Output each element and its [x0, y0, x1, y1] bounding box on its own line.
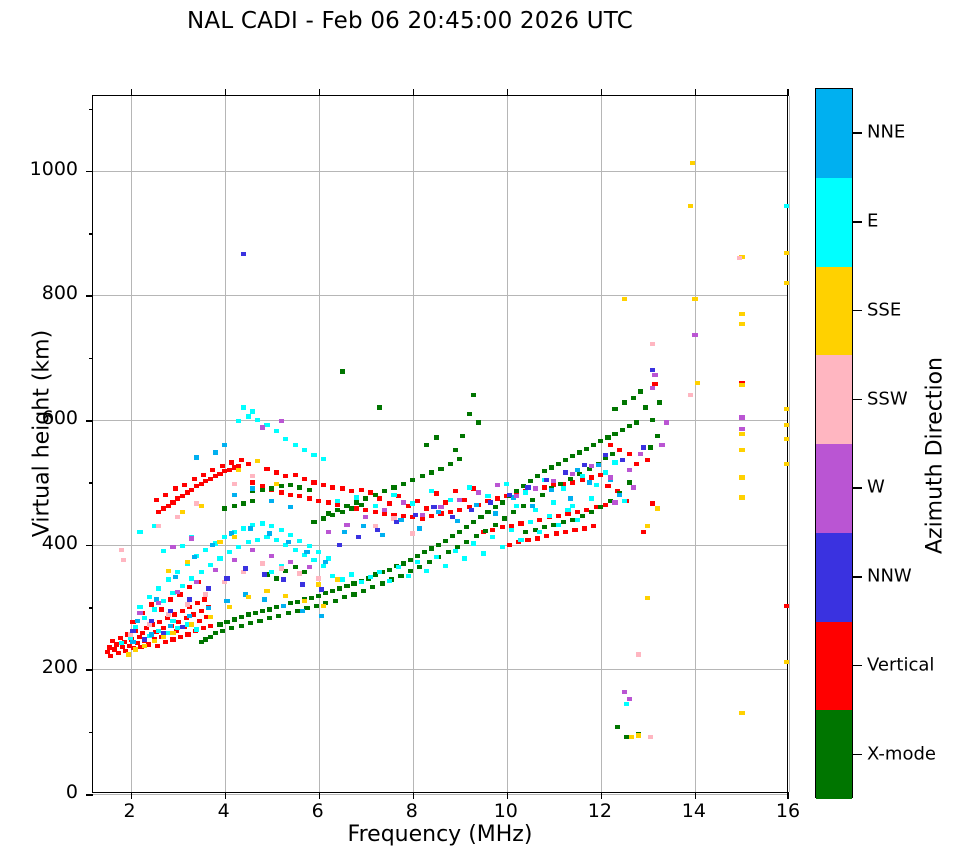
data-point-e	[335, 499, 340, 503]
data-point-e	[612, 460, 617, 464]
data-point-vertical	[159, 607, 164, 611]
data-point-vertical	[116, 651, 121, 655]
x-axis-title: Frequency (MHz)	[92, 822, 788, 847]
data-point-x-mode	[511, 510, 516, 514]
data-point-nne	[135, 619, 140, 623]
data-point-w	[344, 523, 349, 527]
data-point-x-mode	[401, 561, 406, 565]
data-point-nnw	[356, 535, 361, 539]
data-point-x-mode	[239, 624, 244, 628]
x-axis-tick-label: 14	[664, 800, 724, 822]
data-point-nne	[222, 443, 227, 447]
data-point-e	[368, 575, 373, 579]
data-point-x-mode	[438, 467, 443, 471]
colorbar-band-w[interactable]	[816, 444, 852, 533]
data-point-e	[316, 550, 321, 554]
x-axis-tick-label: 4	[194, 800, 254, 822]
data-point-e	[551, 500, 556, 504]
data-point-x-mode	[401, 482, 406, 486]
data-point-nnw	[450, 515, 455, 519]
data-point-w	[260, 425, 265, 429]
data-point-e	[396, 565, 401, 569]
data-point-nnw	[488, 500, 493, 504]
data-point-nne	[288, 505, 293, 509]
data-point-vertical	[382, 511, 387, 515]
colorbar-label-x-mode: X-mode	[867, 743, 936, 764]
data-point-x-mode	[420, 474, 425, 478]
data-point-nne	[224, 599, 229, 603]
data-point-e	[514, 504, 519, 508]
data-point-x-mode	[217, 622, 222, 626]
data-point-sse	[180, 510, 185, 514]
data-point-e	[547, 514, 552, 518]
data-point-sse	[264, 589, 269, 593]
data-point-x-mode	[302, 570, 307, 574]
data-point-x-mode	[246, 612, 251, 616]
data-point-sse	[185, 560, 190, 564]
data-point-vertical	[182, 483, 187, 487]
x-axis-tick	[131, 792, 133, 799]
data-point-w	[533, 486, 538, 490]
data-point-x-mode	[260, 488, 265, 492]
data-point-vertical	[108, 654, 113, 658]
plot-area	[92, 95, 788, 793]
colorbar-band-nne[interactable]	[816, 89, 852, 178]
data-point-nne	[286, 540, 291, 544]
data-point-e	[387, 579, 392, 583]
data-point-sse	[629, 735, 634, 739]
data-point-vertical	[556, 514, 561, 518]
data-point-x-mode	[443, 539, 448, 543]
data-point-w	[476, 490, 481, 494]
data-point-w	[175, 590, 180, 594]
x-axis-tick-label: 10	[476, 800, 536, 822]
data-point-ssw	[241, 570, 246, 574]
colorbar-band-x-mode[interactable]	[816, 710, 852, 799]
data-point-x-mode	[591, 443, 596, 447]
data-point-x-mode	[643, 405, 648, 409]
data-point-x-mode	[307, 488, 312, 492]
colorbar-label-e: E	[867, 211, 878, 232]
colorbar-band-sse[interactable]	[816, 267, 852, 356]
data-point-x-mode	[232, 504, 237, 508]
data-point-x-mode	[260, 609, 265, 613]
data-point-vertical	[199, 609, 204, 613]
data-point-w	[627, 697, 632, 701]
data-point-sse	[739, 383, 744, 387]
data-point-sse	[208, 615, 213, 619]
data-point-e	[264, 535, 269, 539]
data-point-nne	[596, 463, 601, 467]
data-point-e	[429, 489, 434, 493]
data-point-vertical	[617, 448, 622, 452]
data-point-x-mode	[429, 546, 434, 550]
y-axis-tick	[86, 669, 93, 671]
data-point-e	[227, 550, 232, 554]
data-point-vertical	[387, 501, 392, 505]
data-point-vertical	[176, 620, 181, 624]
data-point-vertical	[220, 464, 225, 468]
data-point-x-mode	[314, 604, 319, 608]
data-layer	[93, 96, 787, 792]
data-point-vertical	[229, 460, 234, 464]
data-point-w	[739, 427, 744, 431]
data-point-nne	[417, 526, 422, 530]
data-point-vertical	[500, 525, 505, 529]
data-point-e	[443, 564, 448, 568]
data-point-x-mode	[337, 586, 342, 590]
y-axis-minor-tick	[89, 732, 93, 734]
data-point-w	[156, 601, 161, 605]
data-point-vertical	[321, 483, 326, 487]
data-point-x-mode	[267, 607, 272, 611]
data-point-nne	[436, 510, 441, 514]
data-point-w	[279, 419, 284, 423]
data-point-x-mode	[615, 725, 620, 729]
data-point-x-mode	[530, 498, 535, 502]
data-point-e	[137, 530, 142, 534]
data-point-x-mode	[316, 594, 321, 598]
data-point-nnw	[431, 505, 436, 509]
data-point-e	[274, 538, 279, 542]
data-point-nne	[194, 455, 199, 459]
data-point-e	[194, 627, 199, 631]
data-point-e	[269, 570, 274, 574]
data-point-vertical	[170, 637, 175, 641]
data-point-e	[279, 528, 284, 532]
data-point-vertical	[605, 484, 610, 488]
data-point-x-mode	[297, 485, 302, 489]
x-axis-tick-top	[695, 89, 697, 96]
data-point-sse	[152, 639, 157, 643]
data-point-x-mode	[570, 454, 575, 458]
data-point-w	[622, 690, 627, 694]
data-point-e	[349, 572, 354, 576]
data-point-sse	[232, 535, 237, 539]
colorbar-band-nnw[interactable]	[816, 533, 852, 622]
data-point-ssw	[232, 482, 237, 486]
data-point-nne	[617, 493, 622, 497]
data-point-e	[424, 569, 429, 573]
data-point-x-mode	[279, 484, 284, 488]
data-point-x-mode	[424, 443, 429, 447]
data-point-w	[213, 568, 218, 572]
data-point-vertical	[396, 494, 401, 498]
data-point-vertical	[424, 506, 429, 510]
data-point-w	[250, 548, 255, 552]
data-point-w	[232, 558, 237, 562]
data-point-sse	[142, 644, 147, 648]
x-axis-tick-top	[413, 89, 415, 96]
data-point-x-mode	[267, 616, 272, 620]
x-axis-tick-label: 12	[570, 800, 630, 822]
data-point-ssw	[279, 566, 284, 570]
data-point-x-mode	[523, 530, 528, 534]
data-point-vertical	[197, 619, 202, 623]
data-point-x-mode	[434, 435, 439, 439]
data-point-x-mode	[286, 611, 291, 615]
data-point-x-mode	[476, 420, 481, 424]
data-point-e	[236, 545, 241, 549]
data-point-x-mode	[330, 589, 335, 593]
data-point-e	[246, 540, 251, 544]
data-point-vertical	[201, 626, 206, 630]
data-point-x-mode	[359, 503, 364, 507]
data-point-e	[391, 493, 396, 497]
data-point-nnw	[650, 368, 655, 372]
data-point-vertical	[457, 508, 462, 512]
data-point-e	[255, 418, 260, 422]
data-point-ssw	[650, 342, 655, 346]
data-point-e	[288, 533, 293, 537]
colorbar-tick	[853, 576, 862, 578]
data-point-x-mode	[380, 581, 385, 585]
data-point-e	[537, 530, 542, 534]
data-point-w	[589, 464, 594, 468]
data-point-x-mode	[650, 418, 655, 422]
data-point-sse	[161, 635, 166, 639]
data-point-e	[462, 556, 467, 560]
data-point-vertical	[537, 518, 542, 522]
data-point-x-mode	[655, 434, 660, 438]
data-point-w	[664, 420, 669, 424]
data-point-sse	[274, 482, 279, 486]
data-point-e	[373, 504, 378, 508]
data-point-nne	[267, 531, 272, 535]
colorbar-tick	[853, 399, 862, 401]
x-axis-tick-top	[225, 89, 227, 96]
data-point-vertical	[154, 498, 159, 502]
data-point-sse	[692, 297, 697, 301]
data-point-e	[217, 556, 222, 560]
colorbar-band-e[interactable]	[816, 178, 852, 267]
data-point-e	[241, 526, 246, 530]
data-point-nnw	[243, 566, 248, 570]
data-point-nne	[130, 640, 135, 644]
data-point-x-mode	[330, 513, 335, 517]
data-point-nne	[455, 519, 460, 523]
data-point-x-mode	[577, 450, 582, 454]
x-axis-tick-top	[319, 89, 321, 96]
data-point-nne	[269, 499, 274, 503]
data-point-e	[260, 521, 265, 525]
data-point-e	[236, 419, 241, 423]
data-point-x-mode	[563, 458, 568, 462]
data-point-vertical	[650, 501, 655, 505]
data-point-vertical	[293, 473, 298, 477]
data-point-nne	[210, 543, 215, 547]
data-point-sse	[784, 407, 789, 411]
data-point-x-mode	[561, 520, 566, 524]
data-point-e	[119, 641, 124, 645]
data-point-nnw	[142, 637, 147, 641]
data-point-e	[166, 577, 171, 581]
x-axis-tick	[601, 792, 603, 799]
y-axis-tick	[86, 545, 93, 547]
data-point-w	[650, 386, 655, 390]
data-point-e	[264, 423, 269, 427]
data-point-nnw	[262, 572, 267, 576]
colorbar[interactable]	[815, 88, 853, 798]
data-point-x-mode	[467, 412, 472, 416]
data-point-sse	[645, 596, 650, 600]
data-point-sse	[133, 647, 138, 651]
data-point-nne	[206, 606, 211, 610]
data-point-sse	[255, 459, 260, 463]
data-point-w	[137, 611, 142, 615]
data-point-nne	[248, 526, 253, 530]
data-point-vertical	[434, 491, 439, 495]
data-point-x-mode	[598, 439, 603, 443]
data-point-x-mode	[460, 434, 465, 438]
data-point-e	[180, 544, 185, 548]
x-axis-tick	[507, 792, 509, 799]
data-point-nnw	[394, 520, 399, 524]
y-axis-minor-tick	[89, 109, 93, 111]
data-point-x-mode	[323, 591, 328, 595]
data-point-x-mode	[203, 637, 208, 641]
data-point-x-mode	[304, 606, 309, 610]
y-axis-tick	[86, 794, 93, 796]
data-point-vertical	[525, 538, 530, 542]
data-point-x-mode	[398, 574, 403, 578]
data-point-sse	[784, 462, 789, 466]
data-point-w	[189, 536, 194, 540]
data-point-w	[495, 483, 500, 487]
data-point-nnw	[620, 458, 625, 462]
data-point-sse	[622, 297, 627, 301]
data-point-e	[359, 580, 364, 584]
data-point-e	[622, 499, 627, 503]
data-point-vertical	[634, 462, 639, 466]
data-point-vertical	[297, 494, 302, 498]
data-point-vertical	[195, 601, 200, 605]
data-point-w	[401, 500, 406, 504]
data-point-sse	[739, 322, 744, 326]
ionogram-page: NAL CADI - Feb 06 20:45:00 2026 UTC 0200…	[0, 0, 958, 857]
data-point-vertical	[163, 493, 168, 497]
data-point-w	[652, 373, 657, 377]
data-point-vertical	[330, 485, 335, 489]
data-point-x-mode	[253, 611, 258, 615]
data-point-x-mode	[568, 477, 573, 481]
data-point-sse	[283, 594, 288, 598]
data-point-e	[307, 544, 312, 548]
data-point-vertical	[187, 585, 192, 589]
data-point-sse	[739, 432, 744, 436]
data-point-sse	[784, 251, 789, 255]
data-point-ssw	[121, 558, 126, 562]
data-point-x-mode	[344, 584, 349, 588]
data-point-x-mode	[391, 485, 396, 489]
data-point-nne	[587, 480, 592, 484]
data-point-e	[203, 548, 208, 552]
data-point-vertical	[354, 506, 359, 510]
data-point-nnw	[187, 597, 192, 601]
data-point-x-mode	[429, 470, 434, 474]
data-point-vertical	[208, 624, 213, 628]
gridline-horizontal	[93, 794, 787, 795]
data-point-x-mode	[471, 393, 476, 397]
data-point-nne	[187, 614, 192, 618]
data-point-nnw	[319, 587, 324, 591]
y-axis-minor-tick	[89, 482, 93, 484]
data-point-ssw	[316, 576, 321, 580]
data-point-sse	[739, 495, 744, 499]
data-point-w	[514, 494, 519, 498]
data-point-x-mode	[634, 420, 639, 424]
data-point-vertical	[201, 473, 206, 477]
colorbar-band-ssw[interactable]	[816, 355, 852, 444]
data-point-x-mode	[213, 631, 218, 635]
data-point-vertical	[165, 616, 170, 620]
data-point-ssw	[185, 602, 190, 606]
data-point-nnw	[525, 485, 530, 489]
data-point-w	[692, 333, 697, 337]
gridline-vertical	[789, 96, 790, 792]
data-point-nne	[149, 632, 154, 636]
data-point-e	[471, 541, 476, 545]
data-point-nne	[549, 488, 554, 492]
data-point-x-mode	[415, 554, 420, 558]
colorbar-tick	[853, 221, 862, 223]
x-axis-tick-top	[787, 89, 789, 96]
data-point-sse	[784, 660, 789, 664]
colorbar-tick	[853, 665, 862, 667]
data-point-nnw	[149, 619, 154, 623]
data-point-x-mode	[283, 569, 288, 573]
data-point-sse	[784, 423, 789, 427]
data-point-sse	[321, 604, 326, 608]
data-point-x-mode	[373, 493, 378, 497]
data-point-x-mode	[222, 506, 227, 510]
data-point-e	[453, 549, 458, 553]
data-point-x-mode	[239, 615, 244, 619]
data-point-vertical	[377, 496, 382, 500]
data-point-nnw	[641, 445, 646, 449]
data-point-e	[156, 586, 161, 590]
data-point-vertical	[554, 531, 559, 535]
data-point-e	[321, 457, 326, 461]
data-point-nne	[319, 614, 324, 618]
x-axis-tick-label: 6	[288, 800, 348, 822]
data-point-x-mode	[612, 432, 617, 436]
data-point-e	[222, 535, 227, 539]
data-point-vertical	[173, 486, 178, 490]
data-point-e	[199, 570, 204, 574]
data-point-x-mode	[351, 581, 356, 585]
data-point-x-mode	[464, 525, 469, 529]
colorbar-band-vertical[interactable]	[816, 622, 852, 711]
data-point-nnw	[180, 625, 185, 629]
data-point-e	[311, 453, 316, 457]
data-point-x-mode	[542, 525, 547, 529]
data-point-nnw	[337, 543, 342, 547]
data-point-vertical	[140, 631, 145, 635]
data-point-vertical	[535, 536, 540, 540]
page-title: NAL CADI - Feb 06 20:45:00 2026 UTC	[0, 8, 820, 34]
data-point-sse	[695, 381, 700, 385]
data-point-w	[638, 452, 643, 456]
data-point-e	[556, 523, 561, 527]
data-point-nne	[398, 518, 403, 522]
data-point-e	[603, 470, 608, 474]
data-point-vertical	[373, 510, 378, 514]
data-point-sse	[645, 524, 650, 528]
data-point-e	[293, 548, 298, 552]
colorbar-tick	[853, 487, 862, 489]
data-point-e	[784, 204, 789, 208]
